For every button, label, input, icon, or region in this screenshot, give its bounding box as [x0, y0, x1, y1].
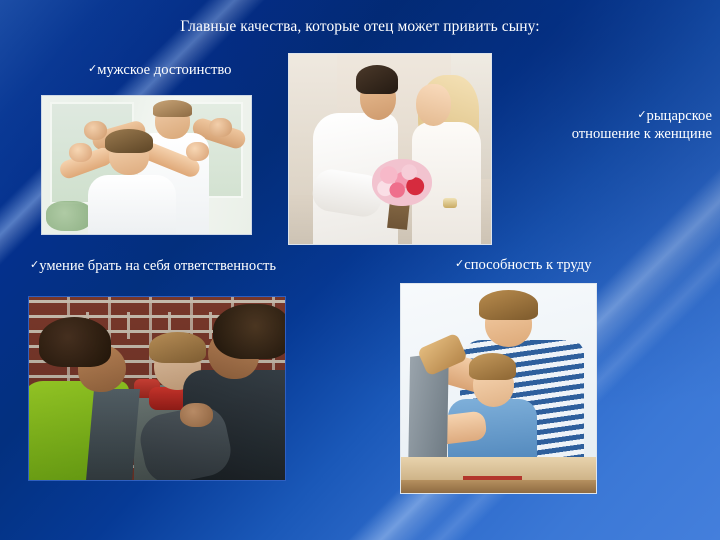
checkmark-icon: ✓ [30, 258, 39, 271]
presentation-slide: Главные качества, которые отец может при… [0, 0, 720, 540]
checkmark-icon: ✓ [455, 257, 464, 270]
bullet-item-chivalry: ✓рыцарское отношение к женщине [572, 108, 712, 144]
photo-father-son-sawing [400, 283, 597, 494]
bullet-label: рыцарское [647, 108, 712, 124]
bullet-line-1: ✓рыцарское [572, 108, 712, 126]
checkmark-icon: ✓ [637, 108, 646, 121]
bullet-item-responsibility: ✓умение брать на себя ответственность [30, 258, 276, 276]
checkmark-icon: ✓ [88, 62, 97, 75]
photo-boys-at-brick-wall [28, 296, 286, 481]
bullet-label: умение брать на себя ответственность [39, 258, 276, 274]
bullet-item-capacity-for-work: ✓способность к труду [455, 257, 592, 275]
bullet-label: способность к труду [464, 257, 591, 273]
slide-title: Главные качества, которые отец может при… [0, 18, 720, 36]
bullet-line-2: отношение к женщине [572, 126, 712, 144]
bullet-label: мужское достоинство [97, 62, 231, 78]
photo-father-son-flexing [41, 95, 252, 235]
photo-couple-with-bouquet [288, 53, 492, 245]
bullet-item-male-dignity: ✓мужское достоинство [88, 62, 231, 80]
